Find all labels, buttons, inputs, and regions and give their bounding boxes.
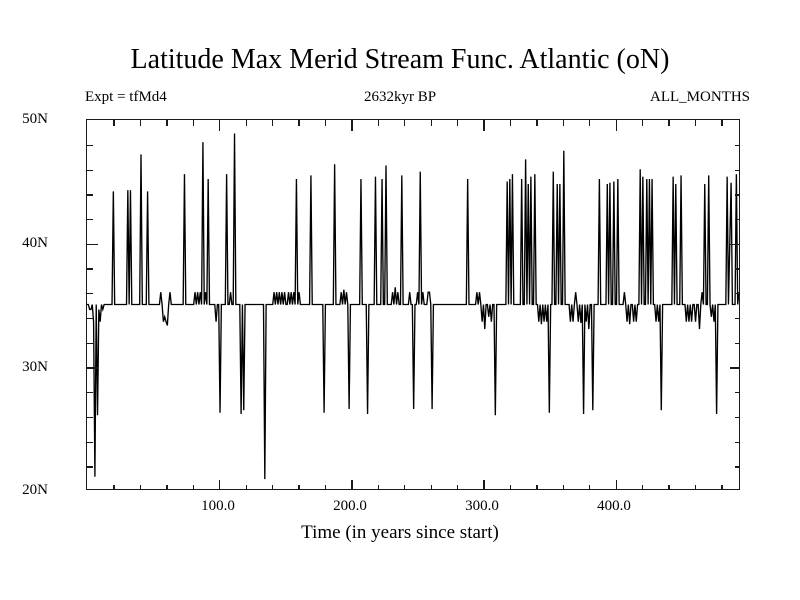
x-minor-tick xyxy=(668,120,669,126)
x-minor-tick xyxy=(113,120,114,126)
x-minor-tick xyxy=(721,485,722,490)
y-axis-tick-label: 20N xyxy=(22,483,48,498)
x-minor-tick xyxy=(166,120,167,126)
x-axis-tick-label: 400.0 xyxy=(597,499,631,514)
y-major-tick xyxy=(87,244,98,245)
y-major-tick xyxy=(730,367,740,368)
x-minor-tick xyxy=(563,120,564,126)
y-minor-tick xyxy=(87,194,93,195)
y-minor-tick xyxy=(735,194,740,195)
x-minor-tick xyxy=(589,120,590,126)
y-minor-tick xyxy=(87,268,93,269)
chart-page: Latitude Max Merid Stream Func. Atlantic… xyxy=(0,0,800,600)
x-minor-tick xyxy=(457,485,458,490)
x-axis-tick-label: 200.0 xyxy=(333,499,367,514)
months-label: ALL_MONTHS xyxy=(650,88,750,106)
x-minor-tick xyxy=(166,485,167,490)
y-minor-tick xyxy=(735,466,740,467)
y-axis-tick-label: 50N xyxy=(22,112,48,127)
x-minor-tick xyxy=(272,120,273,126)
x-major-tick xyxy=(616,480,617,490)
y-major-tick xyxy=(730,244,740,245)
x-axis-tick-label: 300.0 xyxy=(465,499,499,514)
x-minor-tick xyxy=(325,485,326,490)
y-minor-tick xyxy=(735,170,740,171)
plot-area xyxy=(86,119,740,490)
data-series-line xyxy=(87,120,739,489)
x-minor-tick xyxy=(721,120,722,126)
x-minor-tick xyxy=(457,120,458,126)
y-minor-tick xyxy=(87,293,93,294)
x-minor-tick xyxy=(272,485,273,490)
y-minor-tick xyxy=(735,145,740,146)
y-minor-tick xyxy=(87,343,93,344)
x-minor-tick xyxy=(510,120,511,126)
x-minor-tick xyxy=(668,485,669,490)
x-minor-tick xyxy=(536,485,537,490)
x-minor-tick xyxy=(246,485,247,490)
x-minor-tick xyxy=(325,120,326,126)
x-major-tick xyxy=(219,120,220,131)
x-minor-tick xyxy=(246,120,247,126)
y-minor-tick xyxy=(735,392,740,393)
y-minor-tick xyxy=(87,417,93,418)
x-major-tick xyxy=(483,480,484,490)
x-minor-tick xyxy=(695,485,696,490)
y-minor-tick xyxy=(87,442,93,443)
y-minor-tick xyxy=(87,170,93,171)
x-minor-tick xyxy=(589,485,590,490)
x-minor-tick xyxy=(536,120,537,126)
y-minor-tick xyxy=(735,343,740,344)
y-minor-tick xyxy=(735,318,740,319)
x-major-tick xyxy=(616,120,617,131)
x-minor-tick xyxy=(404,485,405,490)
y-minor-tick xyxy=(87,318,93,319)
y-minor-tick xyxy=(735,442,740,443)
y-minor-tick xyxy=(87,145,93,146)
x-minor-tick xyxy=(193,485,194,490)
x-axis-title: Time (in years since start) xyxy=(0,522,800,544)
y-minor-tick xyxy=(735,417,740,418)
x-minor-tick xyxy=(695,120,696,126)
x-minor-tick xyxy=(510,485,511,490)
x-minor-tick xyxy=(140,485,141,490)
x-major-tick xyxy=(483,120,484,131)
x-minor-tick xyxy=(298,120,299,126)
x-minor-tick xyxy=(298,485,299,490)
x-minor-tick xyxy=(378,485,379,490)
y-minor-tick xyxy=(735,219,740,220)
y-major-tick xyxy=(87,367,98,368)
y-minor-tick xyxy=(87,392,93,393)
x-minor-tick xyxy=(642,120,643,126)
x-major-tick xyxy=(351,480,352,490)
x-major-tick xyxy=(351,120,352,131)
x-axis-tick-label: 100.0 xyxy=(201,499,235,514)
x-minor-tick xyxy=(113,485,114,490)
x-minor-tick xyxy=(642,485,643,490)
x-minor-tick xyxy=(431,485,432,490)
x-major-tick xyxy=(219,480,220,490)
y-minor-tick xyxy=(87,219,93,220)
x-minor-tick xyxy=(563,485,564,490)
x-minor-tick xyxy=(193,120,194,126)
page-title: Latitude Max Merid Stream Func. Atlantic… xyxy=(0,44,800,76)
y-axis-tick-label: 30N xyxy=(22,360,48,375)
y-minor-tick xyxy=(735,268,740,269)
x-minor-tick xyxy=(378,120,379,126)
y-minor-tick xyxy=(735,293,740,294)
y-minor-tick xyxy=(87,466,93,467)
x-minor-tick xyxy=(404,120,405,126)
x-minor-tick xyxy=(431,120,432,126)
x-minor-tick xyxy=(140,120,141,126)
y-axis-tick-label: 40N xyxy=(22,236,48,251)
